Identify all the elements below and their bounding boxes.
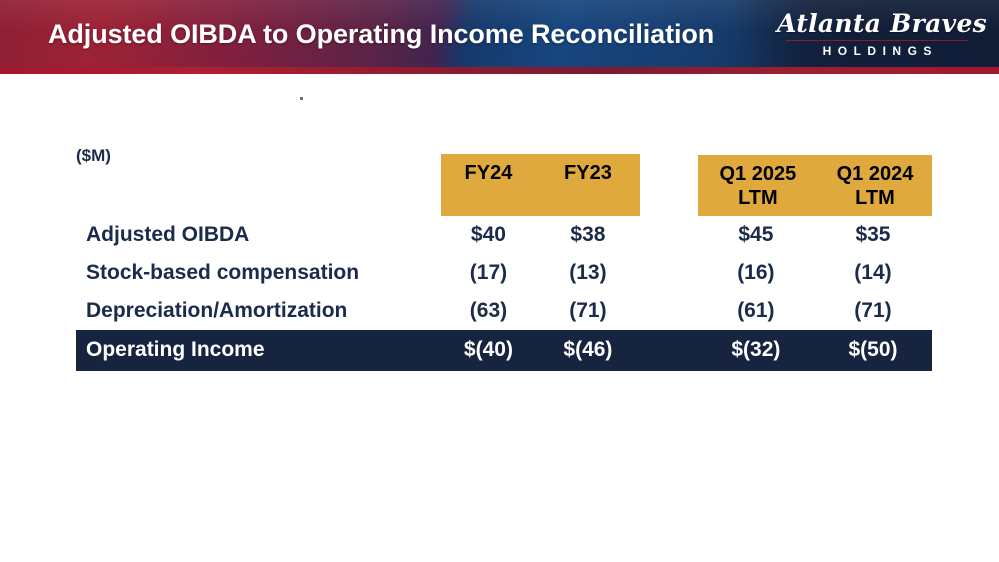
logo-divider-rule [786, 40, 968, 41]
cell-depreciation-amortization-q1-2025-ltm: (61) [698, 292, 818, 330]
column-header-q1-2025-line2: LTM [738, 187, 778, 209]
row-label-adjusted-oibda: Adjusted OIBDA [76, 216, 441, 254]
cell-adjusted-oibda-q1-2025-ltm: $45 [698, 216, 818, 254]
logo-script-wordmark: Atlanta Braves [777, 10, 977, 38]
row-label-stock-based-compensation: Stock-based compensation [76, 254, 441, 292]
slide-header-banner: Adjusted OIBDA to Operating Income Recon… [0, 0, 999, 74]
row-label-depreciation-amortization: Depreciation/Amortization [76, 292, 441, 330]
cell-stock-based-compensation-q1-2025-ltm: (16) [698, 254, 818, 292]
table-row: Stock-based compensation (17) (13) (16) … [76, 254, 932, 292]
reconciliation-table-wrapper: ($M) FY24 FY23 Q1 2025 LTM [76, 146, 932, 371]
cell-operating-income-fy23: $(46) [536, 330, 640, 371]
column-header-cell-q1-2024-ltm: Q1 2024 LTM [818, 146, 932, 216]
table-row: Depreciation/Amortization (63) (71) (61)… [76, 292, 932, 330]
column-header-fy23: FY23 [536, 154, 640, 216]
row-spacer [640, 254, 698, 292]
column-header-q1-2024-ltm: Q1 2024 LTM [818, 155, 932, 216]
column-header-q1-2024-line1: Q1 2024 [837, 163, 914, 185]
column-header-cell-fy24: FY24 [441, 146, 536, 216]
cell-stock-based-compensation-q1-2024-ltm: (14) [818, 254, 932, 292]
column-header-q1-2024-line2: LTM [855, 187, 895, 209]
table-row: Adjusted OIBDA $40 $38 $45 $35 [76, 216, 932, 254]
cell-adjusted-oibda-fy23: $38 [536, 216, 640, 254]
row-label-operating-income: Operating Income [76, 330, 441, 371]
cell-operating-income-q1-2025-ltm: $(32) [698, 330, 818, 371]
cell-stock-based-compensation-fy24: (17) [441, 254, 536, 292]
slide-title: Adjusted OIBDA to Operating Income Recon… [48, 19, 714, 50]
cell-depreciation-amortization-fy23: (71) [536, 292, 640, 330]
row-spacer [640, 216, 698, 254]
atlanta-braves-holdings-logo: Atlanta Braves HOLDINGS [777, 10, 977, 66]
banner-bottom-stripe [0, 67, 999, 74]
stray-dot-artifact [300, 97, 303, 100]
column-header-q1-2025-line1: Q1 2025 [720, 163, 797, 185]
row-spacer [640, 330, 698, 371]
cell-operating-income-q1-2024-ltm: $(50) [818, 330, 932, 371]
column-header-cell-fy23: FY23 [536, 146, 640, 216]
cell-operating-income-fy24: $(40) [441, 330, 536, 371]
logo-subtitle: HOLDINGS [777, 44, 977, 58]
cell-depreciation-amortization-fy24: (63) [441, 292, 536, 330]
unit-label: ($M) [76, 146, 441, 216]
cell-depreciation-amortization-q1-2024-ltm: (71) [818, 292, 932, 330]
column-header-fy24: FY24 [441, 154, 536, 216]
column-header-q1-2025-ltm: Q1 2025 LTM [698, 155, 818, 216]
column-header-cell-q1-2025-ltm: Q1 2025 LTM [698, 146, 818, 216]
row-spacer [640, 292, 698, 330]
cell-stock-based-compensation-fy23: (13) [536, 254, 640, 292]
table-header-row: ($M) FY24 FY23 Q1 2025 LTM [76, 146, 932, 216]
cell-adjusted-oibda-q1-2024-ltm: $35 [818, 216, 932, 254]
column-header-spacer [640, 146, 698, 216]
table-total-row: Operating Income $(40) $(46) $(32) $(50) [76, 330, 932, 371]
reconciliation-table: ($M) FY24 FY23 Q1 2025 LTM [76, 146, 932, 371]
cell-adjusted-oibda-fy24: $40 [441, 216, 536, 254]
slide-body: ($M) FY24 FY23 Q1 2025 LTM [0, 74, 999, 562]
